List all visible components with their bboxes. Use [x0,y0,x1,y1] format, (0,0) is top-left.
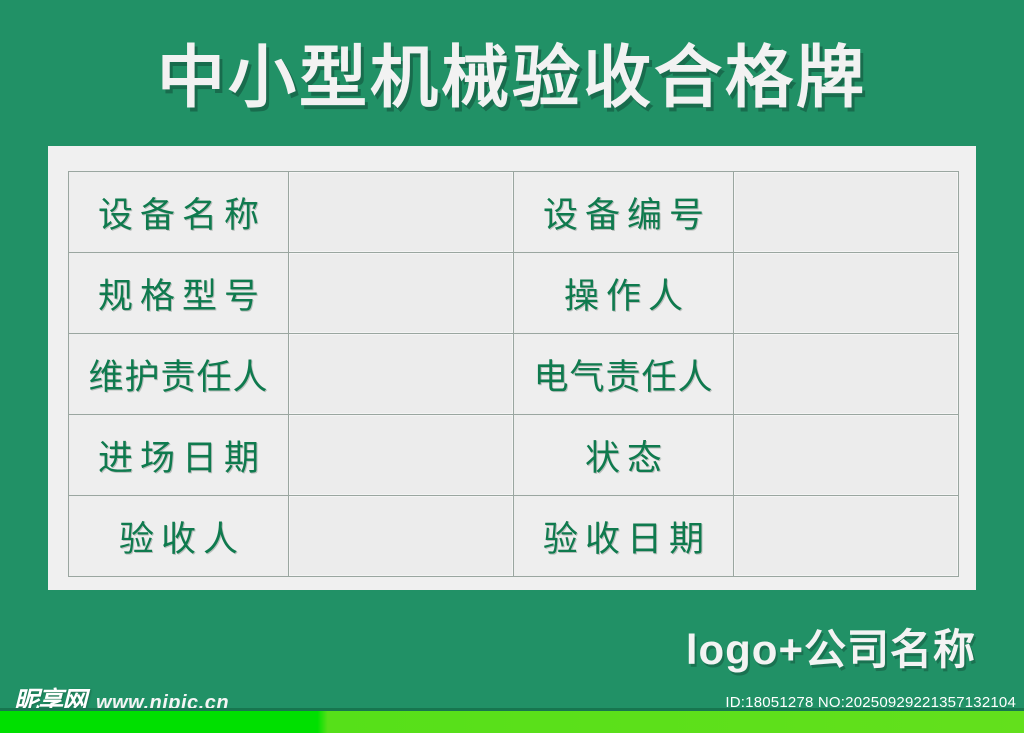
field-electrical-person[interactable] [734,334,959,415]
footer-bar [0,711,1024,733]
label-status: 状态 [514,415,734,496]
info-table-panel: 设备名称 设备编号 规格型号 操作人 维护责任人 电气责任人 [48,146,976,590]
label-maintenance-person: 维护责任人 [69,334,289,415]
equipment-acceptance-table: 设备名称 设备编号 规格型号 操作人 维护责任人 电气责任人 [68,171,959,577]
field-spec-model[interactable] [289,253,514,334]
field-status[interactable] [734,415,959,496]
field-acceptor[interactable] [289,496,514,577]
label-equipment-name: 设备名称 [69,172,289,253]
label-equipment-number: 设备编号 [514,172,734,253]
table-row: 进场日期 状态 [69,415,959,496]
company-logo-placeholder: logo+公司名称 [686,624,976,676]
poster-canvas: 中小型机械验收合格牌 设备名称 设备编号 规格型号 操作人 [0,0,1024,733]
table-row: 验收人 验收日期 [69,496,959,577]
field-maintenance-person[interactable] [289,334,514,415]
table-row: 维护责任人 电气责任人 [69,334,959,415]
table-row: 设备名称 设备编号 [69,172,959,253]
field-entry-date[interactable] [289,415,514,496]
label-acceptance-date: 验收日期 [514,496,734,577]
label-operator: 操作人 [514,253,734,334]
label-acceptor: 验收人 [69,496,289,577]
table-row: 规格型号 操作人 [69,253,959,334]
field-acceptance-date[interactable] [734,496,959,577]
label-spec-model: 规格型号 [69,253,289,334]
field-operator[interactable] [734,253,959,334]
field-equipment-name[interactable] [289,172,514,253]
field-equipment-number[interactable] [734,172,959,253]
page-title: 中小型机械验收合格牌 [0,38,1024,118]
label-electrical-person: 电气责任人 [514,334,734,415]
label-entry-date: 进场日期 [69,415,289,496]
